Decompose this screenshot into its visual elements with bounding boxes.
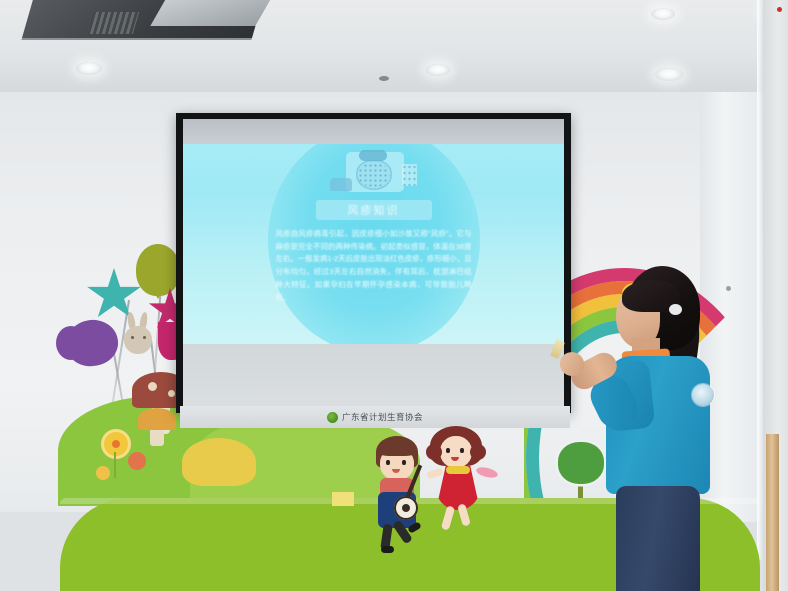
flower-stem [114,452,116,478]
trousers [616,486,700,591]
yellow-bush [182,438,256,486]
medicine-box-icon [402,164,417,186]
boy-shoe [381,546,394,553]
girl-eye [446,448,450,453]
venue-banner-text: 广东省计划生育协会 [342,411,423,423]
girl-eye [460,448,464,453]
female-presenter [600,266,740,591]
screen-blank-area [183,344,564,406]
boy-hair-fringe [377,440,417,456]
wooden-trim [766,434,779,591]
sleeve-badge [692,384,714,406]
vent-grill-icon [87,12,139,34]
purple-heart-lobe [56,326,86,360]
flower-decoration [128,452,146,470]
cartoon-girl-red-dress [424,426,496,536]
slide-illustration [326,150,422,198]
status-indicator-light [777,7,782,12]
girl-ribbon [475,465,499,479]
bunny-eye [143,336,146,339]
guitar-soundhole [402,504,410,512]
mushroom-small-cap [138,408,176,430]
ceiling-downlight [76,62,102,75]
screen-surface: 风疹知识 风疹由风疹病毒引起，因皮疹细小如沙故又称“风痧”。它与麻疹是完全不同的… [183,119,564,406]
ceiling-fitting [379,76,389,81]
ceiling [0,0,788,96]
screen-top-band [183,119,564,144]
slide-title: 风疹知识 [348,202,400,218]
slide-title-plate: 风疹知识 [316,200,432,220]
bunny-eye [131,336,134,339]
association-logo-icon [327,412,338,423]
venue-banner: 广东省计划生育协会 [180,406,570,428]
ice-pack-icon [359,150,387,161]
projected-slide: 风疹知识 风疹由风疹病毒引起，因皮疹细小如沙故又称“风痧”。它与麻疹是完全不同的… [183,144,564,344]
flower-decoration [96,466,110,480]
boy-eye [402,460,406,465]
wall-note [332,492,354,506]
girl-face [440,436,472,468]
screenshot-root: 风疹知识 风疹由风疹病毒引起，因皮疹细小如沙故又称“风痧”。它与麻疹是完全不同的… [0,0,788,591]
ceiling-air-vent [21,0,264,40]
girl-hair-bun [470,444,486,460]
bunny-head-icon [124,326,152,354]
ceiling-downlight [426,64,450,76]
tree-canopy [558,442,604,484]
projector-screen[interactable]: 风疹知识 风疹由风疹病毒引起，因皮疹细小如沙故又称“风痧”。它与麻疹是完全不同的… [176,113,571,413]
girl-hair-bun [426,444,442,460]
boy-eye [386,460,390,465]
girl-arm [426,468,443,480]
vent-panel [150,0,276,26]
bedside-shape [330,178,352,191]
ceiling-downlight [655,68,683,81]
mushroom-cap-dot [168,390,175,397]
ceiling-downlight [651,8,675,20]
mushroom-cap-dot [148,382,157,391]
slide-body-text: 风疹由风疹病毒引起，因皮疹细小如沙故又称“风痧”。它与麻疹是完全不同的两种传染病… [276,228,472,304]
rash-dots [358,163,390,187]
girl-leg [441,505,455,530]
flower-center [112,440,120,448]
olive-round-balloon [136,244,180,296]
girl-dress-collar [446,466,470,474]
hair-tie [669,304,682,315]
